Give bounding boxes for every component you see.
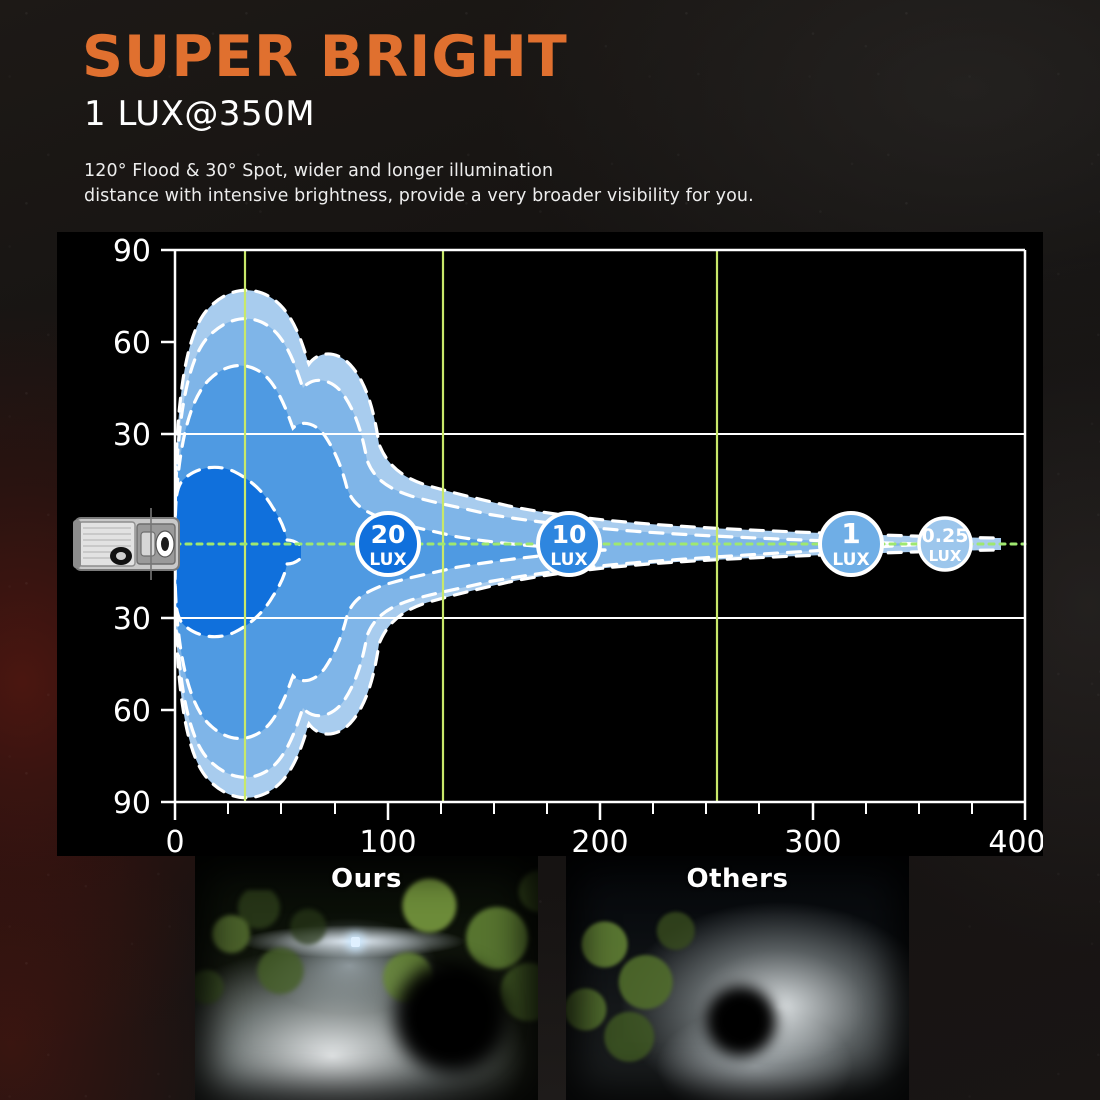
lux-marker-1-unit: LUX — [832, 550, 869, 570]
ytick-label-60-top: 60 — [113, 326, 151, 361]
foliage-left — [566, 900, 695, 1071]
description-line-1: 120° Flood & 30° Spot, wider and longer … — [84, 159, 1042, 184]
xtick-label-400: 400 — [988, 825, 1043, 856]
lux-marker-10-value: 10 — [552, 520, 587, 549]
photo-others: Others — [566, 856, 909, 1100]
truck-top-view-icon — [73, 508, 179, 580]
photo-ours: Ours — [195, 856, 538, 1100]
lux-marker-10: 10 LUX — [538, 513, 600, 575]
lux-marker-1-value: 1 — [841, 517, 860, 550]
ytick-label-30-top: 30 — [113, 418, 151, 453]
xtick-label-200: 200 — [571, 825, 628, 856]
lux-marker-1: 1 LUX — [820, 513, 882, 575]
ytick-label-90-bot: 90 — [113, 786, 151, 821]
lux-marker-025-value: 0.25 — [922, 525, 969, 547]
privacy-blur-dot — [395, 961, 507, 1073]
lux-marker-20: 20 LUX — [357, 513, 419, 575]
chart-svg: 90 60 30 0 30 60 90 0 100 200 300 400 20 — [57, 232, 1043, 856]
ytick-label-30-bot: 30 — [113, 602, 151, 637]
lux-marker-20-value: 20 — [371, 520, 406, 549]
lux-marker-10-unit: LUX — [550, 550, 587, 570]
xtick-label-0: 0 — [165, 825, 184, 856]
photo-label-others: Others — [566, 864, 909, 894]
photo-comparison-strip: Ours Others — [195, 856, 909, 1100]
foliage-left — [195, 890, 339, 1036]
xtick-label-100: 100 — [359, 825, 416, 856]
ytick-label-60-bot: 60 — [113, 694, 151, 729]
page-title: SUPER BRIGHT — [82, 28, 1042, 88]
beam-pattern-chart: 90 60 30 0 30 60 90 0 100 200 300 400 20 — [57, 232, 1043, 856]
privacy-blur-dot — [706, 986, 776, 1056]
page-subtitle: 1 LUX@350M — [84, 96, 1042, 133]
description-line-2: distance with intensive brightness, prov… — [84, 184, 1042, 209]
lux-marker-025: 0.25 LUX — [919, 518, 971, 570]
ytick-label-90-top: 90 — [113, 234, 151, 269]
lux-marker-20-unit: LUX — [369, 550, 406, 570]
header: SUPER BRIGHT 1 LUX@350M 120° Flood & 30°… — [82, 28, 1042, 209]
xtick-label-300: 300 — [784, 825, 841, 856]
distant-light-source — [351, 937, 360, 947]
page-description: 120° Flood & 30° Spot, wider and longer … — [84, 159, 1042, 209]
photo-label-ours: Ours — [195, 864, 538, 894]
lux-marker-025-unit: LUX — [929, 547, 962, 565]
